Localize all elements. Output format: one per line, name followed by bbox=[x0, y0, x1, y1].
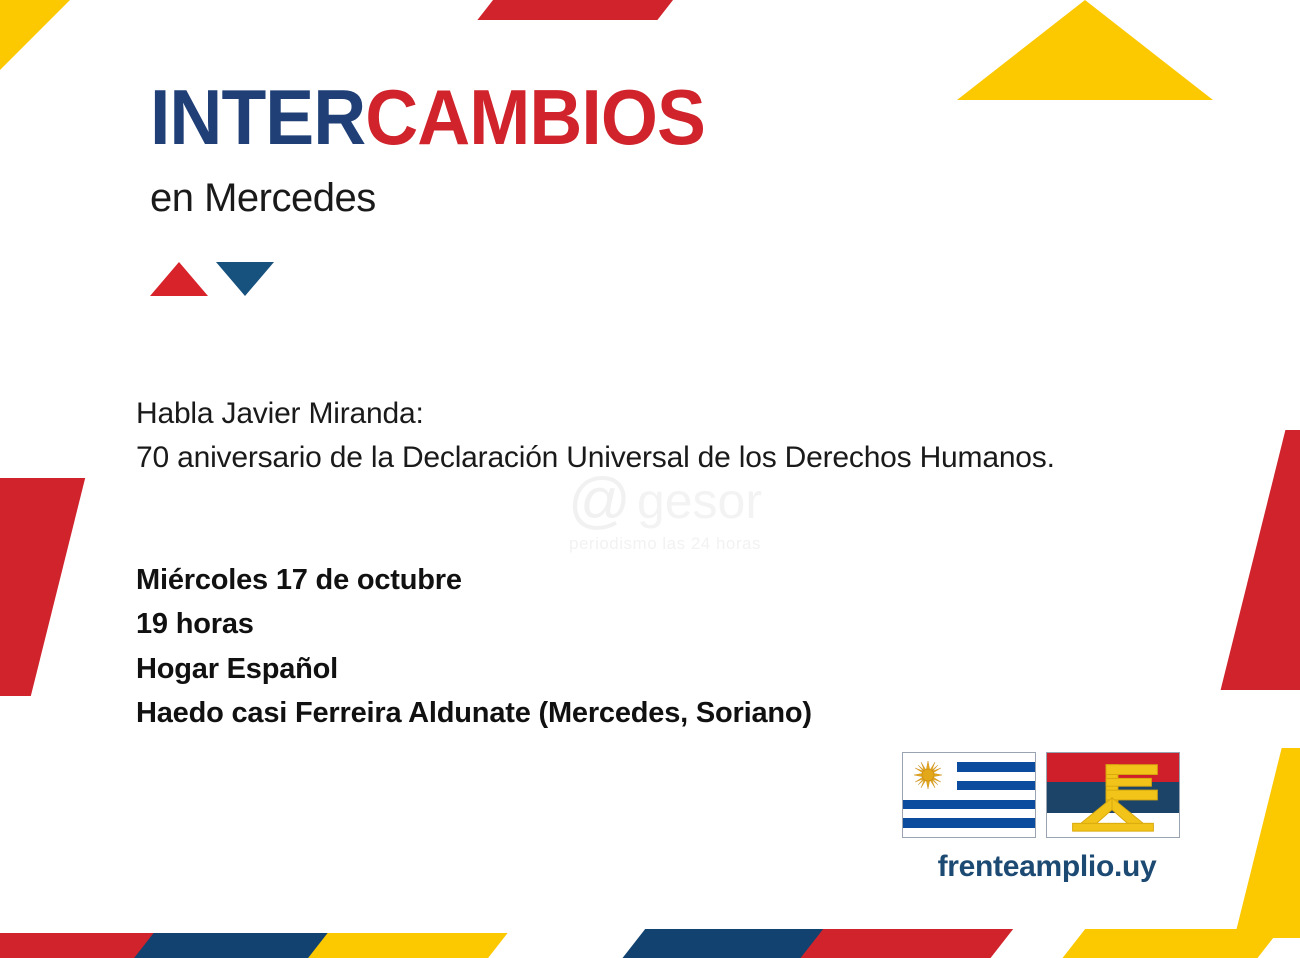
triangle-divider bbox=[150, 262, 290, 298]
event-details-block: Miércoles 17 de octubre 19 horas Hogar E… bbox=[136, 558, 812, 735]
poster-canvas: INTERCAMBIOS en Mercedes @ gesor periodi… bbox=[0, 0, 1300, 958]
flags-group bbox=[902, 752, 1180, 838]
triangle-up-red-icon bbox=[150, 262, 208, 296]
poster-content: INTERCAMBIOS en Mercedes @ gesor periodi… bbox=[0, 0, 1300, 958]
website-link[interactable]: frenteamplio.uy bbox=[902, 850, 1192, 884]
frente-amplio-emblem-icon bbox=[1047, 753, 1179, 837]
sun-of-may-icon bbox=[914, 761, 942, 789]
frente-amplio-flag bbox=[1046, 752, 1180, 838]
triangle-down-blue-icon bbox=[216, 262, 274, 296]
wordmark-part-inter: INTER bbox=[150, 73, 365, 161]
wordmark: INTERCAMBIOS bbox=[150, 78, 705, 156]
watermark-tagline: periodismo las 24 horas bbox=[520, 534, 810, 554]
watermark-at-icon: @ bbox=[568, 470, 631, 532]
lede-line-speaker: Habla Javier Miranda: bbox=[136, 392, 1055, 436]
lede-line-topic: 70 aniversario de la Declaración Univers… bbox=[136, 436, 1055, 480]
brand-subtitle: en Mercedes bbox=[150, 178, 740, 218]
watermark: @ gesor periodismo las 24 horas bbox=[520, 470, 810, 554]
event-address: Haedo casi Ferreira Aldunate (Mercedes, … bbox=[136, 691, 812, 735]
brand-block: INTERCAMBIOS en Mercedes bbox=[150, 78, 740, 218]
event-date: Miércoles 17 de octubre bbox=[136, 558, 812, 602]
watermark-name: gesor bbox=[637, 476, 762, 526]
event-venue: Hogar Español bbox=[136, 647, 812, 691]
lede-block: Habla Javier Miranda: 70 aniversario de … bbox=[136, 392, 1055, 479]
wordmark-part-cambios: CAMBIOS bbox=[365, 73, 705, 161]
event-time: 19 horas bbox=[136, 602, 812, 646]
uruguay-flag bbox=[902, 752, 1036, 838]
